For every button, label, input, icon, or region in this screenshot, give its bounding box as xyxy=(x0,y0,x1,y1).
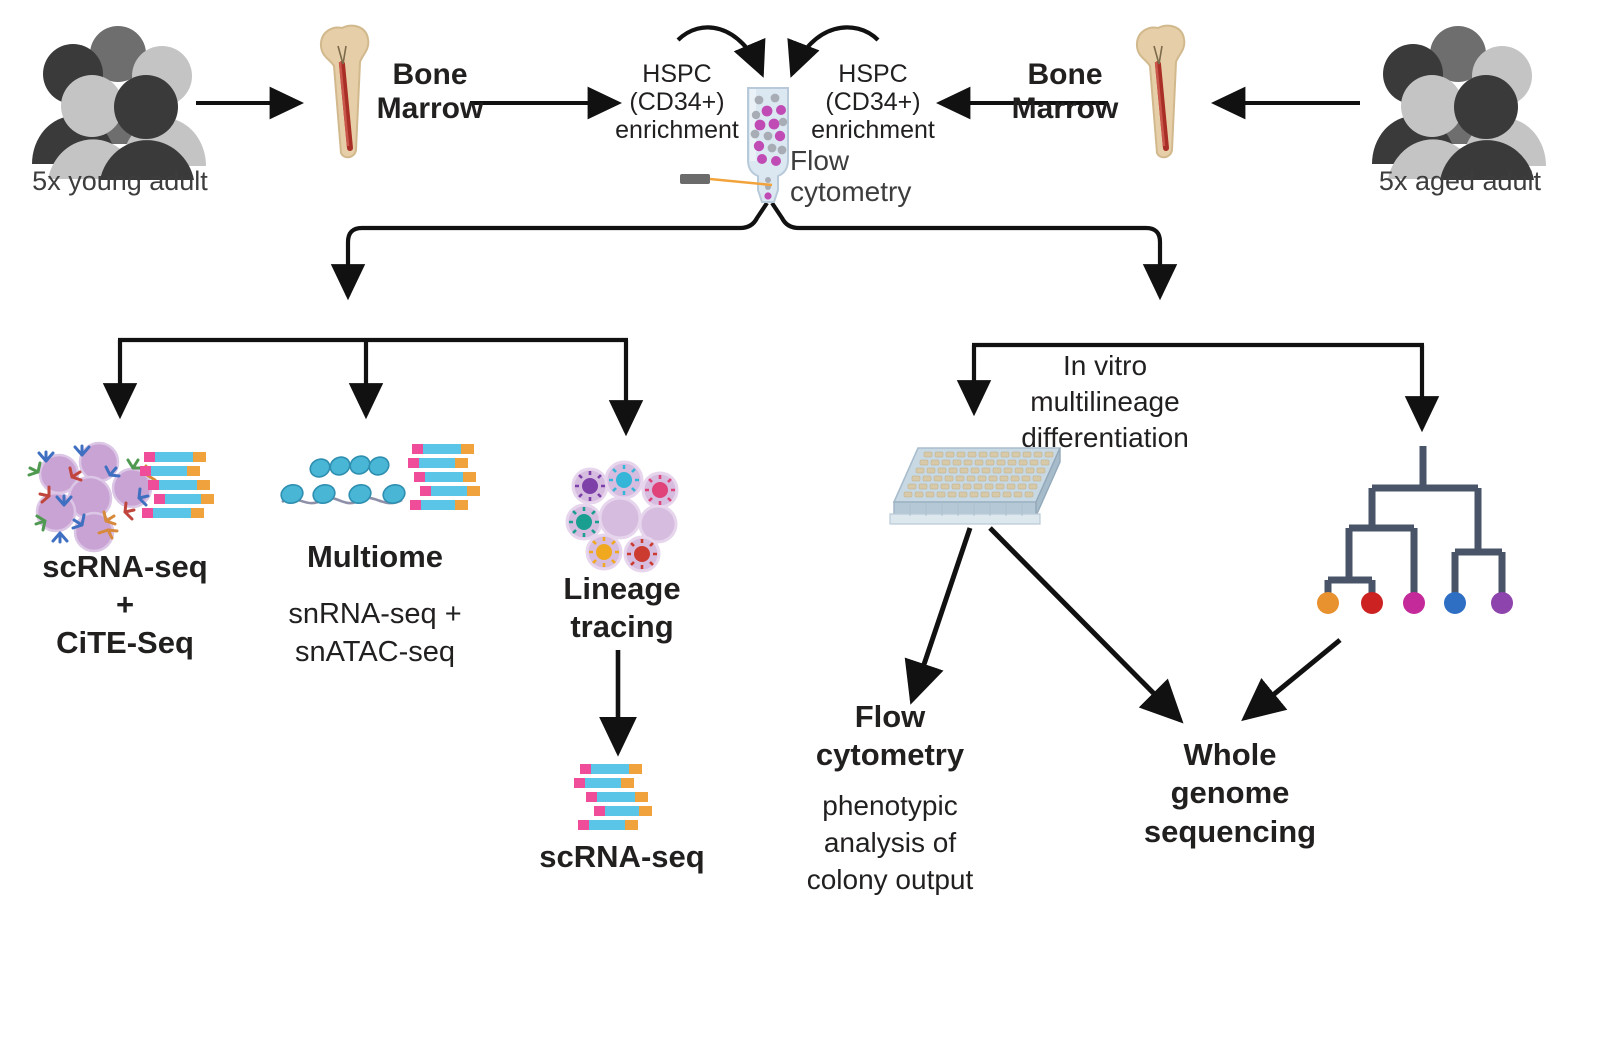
bracket-sorter-to-left-branch xyxy=(348,203,767,296)
bone-marrow-label-left: Bone Marrow xyxy=(365,58,495,125)
assay-title-multiome: Multiome xyxy=(262,540,488,575)
tree-leaf-orange xyxy=(1317,592,1339,614)
hspc-enrichment-label-right: HSPC (CD34+) enrichment xyxy=(808,60,938,144)
bone-marrow-label-right: Bone Marrow xyxy=(1000,58,1130,125)
young-adult-label: 5x young adult xyxy=(0,166,240,196)
femur-bone-icon-right xyxy=(1128,22,1190,162)
assay-subtitle-multiome: snRNA-seq + snATAC-seq xyxy=(262,596,488,671)
arrow-plate-to-wgs xyxy=(990,528,1180,720)
readout-title-flow-cytometry: Flow cytometry xyxy=(790,698,990,775)
readout-title-wgs: Whole genome sequencing xyxy=(1120,736,1340,851)
flow-cytometry-sorter-label: Flow cytometry xyxy=(790,145,980,208)
tree-leaf-purple xyxy=(1491,592,1513,614)
tree-leaf-magenta xyxy=(1403,592,1425,614)
tree-leaf-red xyxy=(1361,592,1383,614)
assay-output-title-lineage: scRNA-seq xyxy=(512,840,732,875)
assay-title-scrna-cite: scRNA-seq + CiTE-Seq xyxy=(10,548,240,661)
dna-reads-icon-scrna xyxy=(140,448,220,518)
hspc-enrichment-label-left: HSPC (CD34+) enrichment xyxy=(612,60,742,144)
people-group-icon-aged xyxy=(1370,14,1545,179)
phylogenetic-tree-icon xyxy=(1330,440,1520,620)
barcoded-cells-icon xyxy=(566,448,686,568)
dna-reads-icon-multiome xyxy=(408,442,490,514)
arrow-tree-to-wgs xyxy=(1245,640,1340,718)
bracket-sorter-to-right-branch xyxy=(772,203,1160,296)
tree-leaf-blue xyxy=(1444,592,1466,614)
96-well-plate-icon xyxy=(884,440,1070,532)
nucleosome-chromatin-icon xyxy=(278,448,428,518)
laser-emitter-icon xyxy=(680,168,776,192)
people-group-icon-young xyxy=(30,14,205,179)
workflow-diagram: 5x young adult Bone Marrow HSPC (CD34+) … xyxy=(0,0,1600,1063)
arrow-plate-to-flow-readout xyxy=(912,528,970,700)
aged-adult-label: 5x aged adult xyxy=(1330,166,1590,196)
dna-reads-icon-lineage xyxy=(572,762,668,842)
assay-title-lineage-tracing: Lineage tracing xyxy=(512,570,732,647)
readout-subtitle-flow-cytometry: phenotypic analysis of colony output xyxy=(790,788,990,899)
